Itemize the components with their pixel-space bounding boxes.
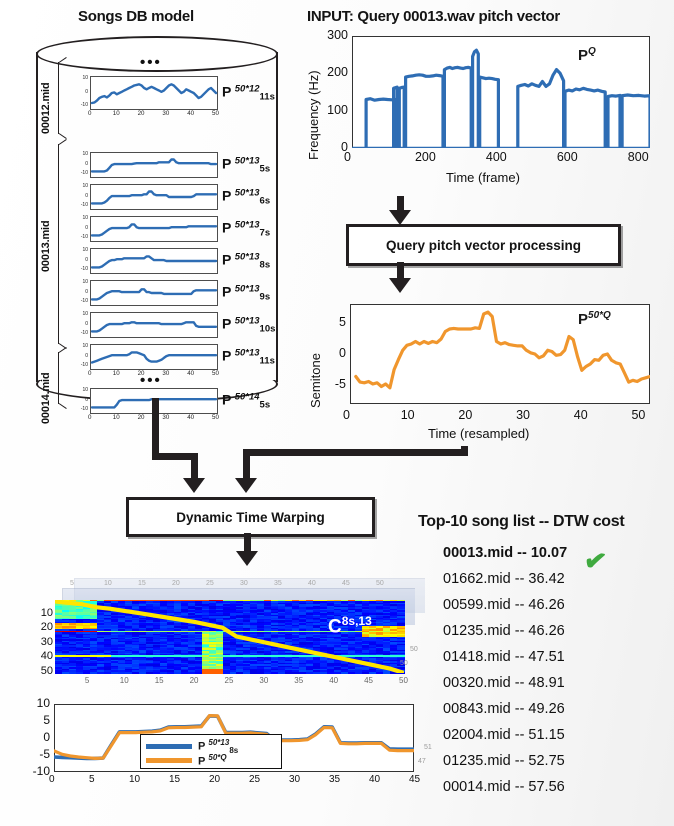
segment-ytick: 10 [70, 247, 88, 253]
label-base: P [222, 391, 231, 407]
back-xtick: 15 [138, 580, 146, 587]
segment-ytick: -10 [70, 406, 88, 412]
semitone-chart-xlabel: Time (resampled) [428, 426, 529, 441]
semitone-xtick: 40 [574, 408, 588, 422]
label-base: P [222, 315, 231, 331]
label-sup: 50*12 [235, 83, 260, 94]
cost-matrix-annotation: C8s,13 [328, 614, 372, 638]
compare-ytick: -10 [28, 764, 50, 778]
segment-ytick: -10 [70, 362, 88, 368]
arrow-query-down [243, 449, 250, 481]
segment-xtick: 10 [113, 110, 120, 117]
query-xtick: 800 [628, 150, 649, 164]
matrix-xtick: 25 [225, 676, 234, 685]
legend-swatch [146, 744, 192, 749]
legend-label: P 50*Q [198, 753, 227, 768]
segment-xtick: 10 [113, 414, 120, 421]
matrix-xtick: 35 [294, 676, 303, 685]
segment-xtick: 20 [138, 110, 145, 117]
label-sup: 50*13 [235, 347, 260, 358]
arrow-query-elbow [243, 449, 468, 456]
label-sup: 50*13 [235, 187, 260, 198]
label-base: P [222, 83, 231, 99]
song-list-item[interactable]: 00013.mid -- 10.07 [443, 545, 567, 561]
segment-ytick: 0 [70, 257, 88, 263]
label-sup: 50*14 [235, 391, 260, 402]
back-xtick: 50 [376, 580, 384, 587]
label-sub: 5s [260, 400, 271, 411]
query-xtick: 0 [344, 150, 351, 164]
label-sub: 8s [260, 260, 271, 271]
back-xtick: 10 [104, 580, 112, 587]
annotation-sup: 50*Q [588, 310, 611, 321]
label-base: P [222, 219, 231, 235]
song-list-item[interactable]: 01235.mid -- 46.26 [443, 623, 565, 639]
query-xtick: 200 [415, 150, 436, 164]
segment-label: P 50*145s [222, 391, 270, 410]
segment-line [90, 312, 218, 338]
segment-ytick: 0 [70, 321, 88, 327]
db-segment-4: 100-10P 50*138s [70, 248, 280, 274]
label-sub: 7s [260, 228, 271, 239]
arrow-db-down [191, 453, 198, 481]
query-chart-xlabel: Time (frame) [446, 170, 520, 185]
segment-xtick: 10 [113, 370, 120, 377]
semitone-xtick: 20 [458, 408, 472, 422]
semitone-ytick: 0 [320, 346, 346, 360]
query-chart-annotation: PQ [578, 46, 596, 64]
segment-ytick: 10 [70, 215, 88, 221]
cylinder-label-00012: 00012.mid [40, 62, 52, 134]
query-xtick: 400 [486, 150, 507, 164]
arrow-to-matrix-head [236, 551, 258, 566]
semitone-ytick: -5 [320, 377, 346, 391]
arrow-db-head [183, 478, 205, 493]
query-ytick: 100 [318, 103, 348, 117]
db-segment-8: 100-1001020304050P 50*145s [70, 388, 280, 414]
back-xtick: 25 [206, 580, 214, 587]
song-list-item[interactable]: 00320.mid -- 48.91 [443, 675, 565, 691]
back-xtick: 45 [342, 580, 350, 587]
label-sup: 50*13 [235, 155, 260, 166]
annotation-base: P [578, 311, 588, 328]
compare-xtick: 30 [289, 774, 300, 785]
label-sub: 11s [260, 356, 275, 367]
results-heading: Top-10 song list -- DTW cost [418, 513, 624, 531]
compare-ytick: 10 [28, 696, 50, 710]
compare-xtick: 0 [49, 774, 55, 785]
segment-line [90, 184, 218, 210]
song-list-item[interactable]: 00599.mid -- 46.26 [443, 597, 565, 613]
segment-ytick: 10 [70, 311, 88, 317]
compare-xtick: 35 [329, 774, 340, 785]
compare-ytick: 5 [28, 713, 50, 727]
segment-xtick: 20 [138, 370, 145, 377]
segment-xtick: 40 [187, 370, 194, 377]
segment-line [90, 76, 218, 110]
label-sup: 50*13 [235, 315, 260, 326]
back-label-0: 50 [410, 646, 418, 653]
legend-swatch [146, 758, 192, 763]
label-sup: 50*13 [235, 251, 260, 262]
segment-xtick: 50 [212, 414, 219, 421]
song-list-item[interactable]: 01235.mid -- 52.75 [443, 753, 565, 769]
matrix-ytick: 30 [40, 636, 53, 648]
query-processing-box[interactable]: Query pitch vector processing [346, 224, 621, 266]
segment-ytick: 10 [70, 279, 88, 285]
compare-chart-legend: P 50*138sP 50*Q [140, 734, 282, 769]
segment-ytick: 0 [70, 193, 88, 199]
segment-ytick: -10 [70, 202, 88, 208]
segment-ytick: 10 [70, 151, 88, 157]
segment-ytick: -10 [70, 170, 88, 176]
db-segment-2: 100-10P 50*136s [70, 184, 280, 210]
segment-label: P 50*139s [222, 283, 270, 302]
song-list-item[interactable]: 00014.mid -- 57.56 [443, 779, 565, 795]
back-label-2: 51 [424, 744, 432, 751]
label-base: P [222, 155, 231, 171]
annotation-sup: 8s,13 [342, 614, 372, 628]
brace-00014 [58, 352, 59, 404]
segment-ytick: -10 [70, 266, 88, 272]
segment-line [90, 344, 218, 370]
dtw-box[interactable]: Dynamic Time Warping [126, 497, 375, 537]
best-match-check-icon: ✔ [582, 545, 609, 579]
query-xtick: 600 [557, 150, 578, 164]
compare-xtick: 25 [249, 774, 260, 785]
segment-ytick: 10 [70, 183, 88, 189]
segment-label: P 50*135s [222, 155, 270, 174]
segment-ytick: 0 [70, 397, 88, 403]
db-segment-5: 100-10P 50*139s [70, 280, 280, 306]
segment-label: P 50*1310s [222, 315, 275, 334]
db-segment-7: 100-1001020304050P 50*1311s [70, 344, 280, 370]
compare-xtick: 45 [409, 774, 420, 785]
matrix-xtick: 10 [120, 676, 129, 685]
label-sub: 5s [260, 164, 271, 175]
arrow-to-processing-head [389, 210, 411, 225]
semitone-ytick: 5 [320, 315, 346, 329]
legend-sub: 8s [229, 746, 238, 755]
compare-chart: 1050-5-10 051015202530354045 P 50*138sP … [28, 700, 440, 796]
segment-ytick: 0 [70, 353, 88, 359]
segment-xtick: 40 [187, 414, 194, 421]
arrow-query-head [235, 478, 257, 493]
back-xtick: 5 [70, 580, 74, 587]
segment-ytick: -10 [70, 102, 88, 108]
semitone-xtick: 0 [343, 408, 350, 422]
matrix-xtick: 15 [155, 676, 164, 685]
arrow-to-semitone-head [389, 278, 411, 293]
query-pitch-chart: Frequency (Hz) 0100200300 0200400600800 … [306, 28, 666, 193]
compare-ytick: 0 [28, 730, 50, 744]
segment-ytick: 10 [70, 343, 88, 349]
db-segment-1: 100-10P 50*135s [70, 152, 280, 178]
annotation-sup: Q [588, 46, 596, 57]
back-label-1: 50 [400, 660, 408, 667]
label-sub: 9s [260, 292, 271, 303]
segment-label: P 50*1211s [222, 83, 275, 102]
compare-xtick: 15 [169, 774, 180, 785]
cylinder-label-00014: 00014.mid [40, 354, 52, 424]
compare-xtick: 10 [129, 774, 140, 785]
semitone-chart: Semitone -505 01020304050 Time (resample… [306, 296, 666, 451]
song-list-item[interactable]: 01418.mid -- 47.51 [443, 649, 565, 665]
segment-ytick: -10 [70, 330, 88, 336]
annotation-base: P [578, 47, 588, 64]
db-segment-6: 100-10P 50*1310s [70, 312, 280, 338]
annotation-base: C [328, 616, 342, 637]
matrix-xtick: 5 [85, 676, 89, 685]
segment-xtick: 50 [212, 370, 219, 377]
label-base: P [222, 347, 231, 363]
query-ytick: 300 [318, 28, 348, 42]
compare-xtick: 5 [89, 774, 95, 785]
legend-sup: 50*Q [208, 753, 226, 762]
query-chart-line [352, 36, 650, 148]
song-list-item[interactable]: 01662.mid -- 36.42 [443, 571, 565, 587]
segment-line [90, 152, 218, 178]
matrix-xtick: 30 [259, 676, 268, 685]
segment-xtick: 30 [162, 110, 169, 117]
segment-label: P 50*138s [222, 251, 270, 270]
matrix-xtick: 50 [399, 676, 408, 685]
semitone-xtick: 30 [516, 408, 530, 422]
matrix-ytick: 50 [40, 665, 53, 677]
ellipsis-top: ••• [140, 54, 162, 71]
legend-row: P 50*Q [146, 753, 227, 768]
segment-label: P 50*1311s [222, 347, 275, 366]
segment-line [90, 216, 218, 242]
segment-ytick: -10 [70, 298, 88, 304]
db-segment-3: 100-10P 50*137s [70, 216, 280, 242]
segment-xtick: 50 [212, 110, 219, 117]
compare-xtick: 40 [369, 774, 380, 785]
segment-label: P 50*136s [222, 187, 270, 206]
matrix-xtick: 45 [364, 676, 373, 685]
cost-matrix-panel: 1020304050 5101520253035404550 C8s,13 51… [40, 578, 440, 688]
segment-xtick: 20 [138, 414, 145, 421]
segment-xtick: 40 [187, 110, 194, 117]
song-list-item[interactable]: 02004.mid -- 51.15 [443, 727, 565, 743]
label-base: P [222, 251, 231, 267]
query-ytick: 200 [318, 65, 348, 79]
back-xtick: 20 [172, 580, 180, 587]
songs-db-cylinder: 00012.mid 00013.mid 00014.mid ••• ••• 10… [36, 36, 276, 398]
input-query-title: INPUT: Query 00013.wav pitch vector [307, 8, 560, 25]
back-label-3: 47 [418, 758, 426, 765]
segment-xtick: 0 [88, 110, 91, 117]
compare-ytick: -5 [28, 747, 50, 761]
song-list-item[interactable]: 00843.mid -- 49.26 [443, 701, 565, 717]
label-base: P [222, 283, 231, 299]
matrix-xtick: 20 [190, 676, 199, 685]
legend-base: P [198, 741, 205, 753]
segment-ytick: -10 [70, 234, 88, 240]
legend-sup: 50*13 [208, 738, 229, 747]
segment-ytick: 0 [70, 161, 88, 167]
segment-xtick: 0 [88, 414, 91, 421]
label-base: P [222, 187, 231, 203]
label-sup: 50*13 [235, 283, 260, 294]
segment-ytick: 10 [70, 387, 88, 393]
matrix-ytick: 10 [40, 607, 53, 619]
arrow-to-matrix-stem [244, 533, 251, 553]
segment-xtick: 30 [162, 414, 169, 421]
matrix-xtick: 40 [329, 676, 338, 685]
back-xtick: 30 [240, 580, 248, 587]
arrow-db-stem-vert [152, 398, 159, 460]
brace-00013 [58, 144, 59, 344]
matrix-ytick: 20 [40, 621, 53, 633]
segment-line [90, 248, 218, 274]
cylinder-label-00013: 00013.mid [40, 148, 52, 344]
segment-ytick: 10 [70, 75, 88, 81]
semitone-chart-annotation: P50*Q [578, 310, 611, 328]
segment-xtick: 0 [88, 370, 91, 377]
matrix-ytick: 40 [40, 650, 53, 662]
back-xtick: 40 [308, 580, 316, 587]
semitone-xtick: 10 [401, 408, 415, 422]
segment-label: P 50*137s [222, 219, 270, 238]
segment-line [90, 280, 218, 306]
label-sub: 10s [260, 324, 276, 335]
segment-ytick: 0 [70, 89, 88, 95]
segment-xtick: 30 [162, 370, 169, 377]
songs-db-title: Songs DB model [78, 8, 194, 25]
label-sup: 50*13 [235, 219, 260, 230]
compare-xtick: 20 [209, 774, 220, 785]
label-sub: 11s [260, 92, 275, 103]
segment-ytick: 0 [70, 289, 88, 295]
back-xtick: 35 [274, 580, 282, 587]
label-sub: 6s [260, 196, 271, 207]
legend-base: P [198, 756, 205, 768]
semitone-xtick: 50 [631, 408, 645, 422]
db-segment-0: 100-1001020304050P 50*1211s [70, 76, 280, 110]
brace-00012 [58, 62, 59, 134]
segment-ytick: 0 [70, 225, 88, 231]
